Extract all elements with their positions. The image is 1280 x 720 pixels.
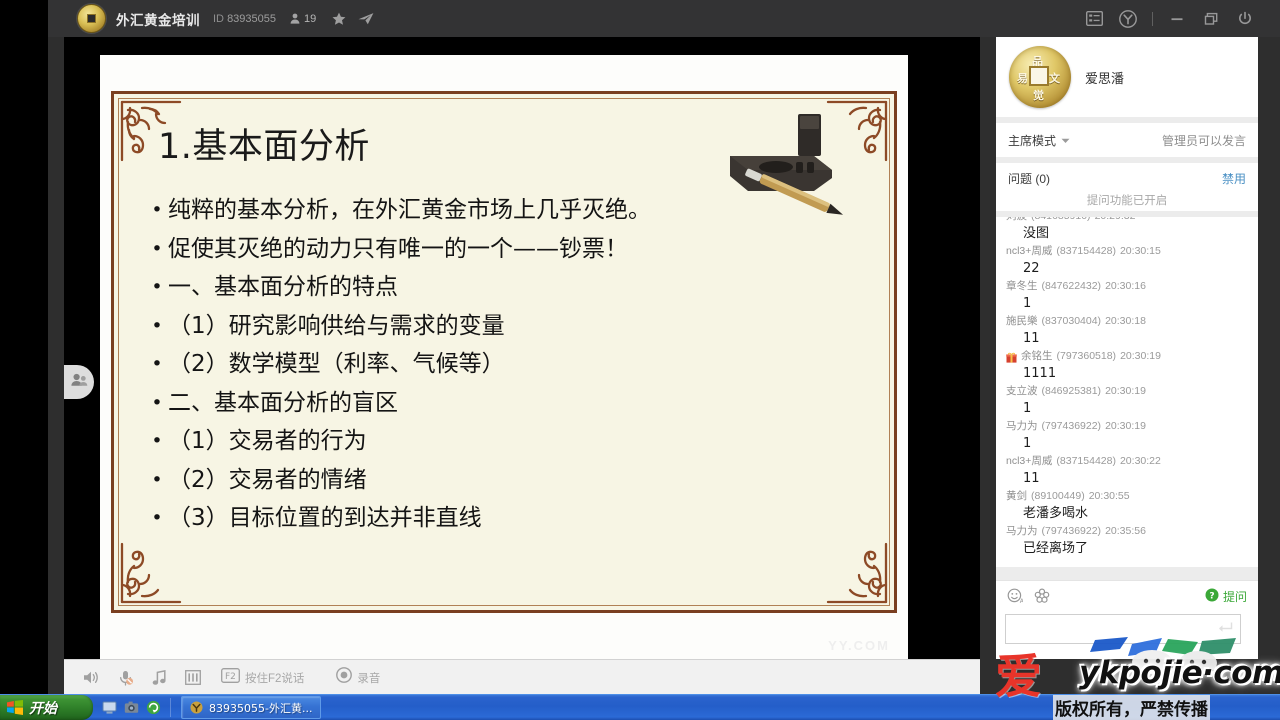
chat-time: 20:30:22 <box>1120 453 1161 469</box>
bullet-text: （2）交易者的情绪 <box>168 461 866 500</box>
media-toolbar: F2 按住F2说话 录音 <box>64 659 980 695</box>
viewer-count-value: 19 <box>304 13 316 25</box>
chat-tools: A ? 提问 <box>996 581 1258 611</box>
bullet-marker: • <box>146 345 168 384</box>
record-label: 录音 <box>357 670 380 686</box>
watermark-site: ykpojie·com <box>1079 655 1280 691</box>
coin-glyph: 易 <box>1017 70 1028 86</box>
chat-message-text: 1 <box>1006 399 1248 418</box>
chat-username: 马力为 <box>1006 523 1038 539</box>
chat-username: 施民樂 <box>1006 313 1038 329</box>
bullet-item: •二、基本面分析的盲区 <box>146 384 866 423</box>
chat-time: 20:35:56 <box>1105 523 1146 539</box>
emoji-icon[interactable]: A <box>1007 588 1023 604</box>
people-icon <box>71 373 88 391</box>
chat-username: ncl3+周威 <box>1006 243 1052 259</box>
microphone-muted-icon[interactable] <box>109 660 143 695</box>
qa-status: 提问功能已开启 <box>996 192 1258 208</box>
bullet-marker: • <box>146 384 168 423</box>
chat-message: 余铭生 (797360518) 20:30:19 1111 <box>1006 348 1248 383</box>
chat-userid: (89100449) <box>1031 488 1085 504</box>
chat-message-header: 余铭生 (797360518) 20:30:19 <box>1006 348 1248 364</box>
chat-message-header: 刘波 (841685910) 20:29:32 <box>1006 217 1248 224</box>
chat-userid: (837154428) <box>1056 243 1116 259</box>
mode-selector[interactable]: 主席模式 <box>1008 131 1070 149</box>
chat-message: 马力为 (797436922) 20:35:56 已经离场了 <box>1006 523 1248 558</box>
qa-panel: 问题 (0) 禁用 提问功能已开启 <box>996 163 1258 211</box>
bullet-item: •（2）交易者的情绪 <box>146 461 866 500</box>
bullet-text: 纯粹的基本分析，在外汇黄金市场上几乎灭绝。 <box>168 191 866 230</box>
chat-message: 马力为 (797436922) 20:30:19 1 <box>1006 418 1248 453</box>
record-icon <box>336 667 352 688</box>
ornament-corner-icon <box>826 542 888 604</box>
channel-id: ID 83935055 <box>213 13 276 25</box>
slide-bullet-list: •纯粹的基本分析，在外汇黄金市场上几乎灭绝。 •促使其灭绝的动力只有唯一的一个—… <box>146 191 866 538</box>
chat-message: 施民樂 (837030404) 20:30:18 11 <box>1006 313 1248 348</box>
toolbar-divider <box>1152 12 1153 26</box>
browser-icon[interactable] <box>146 700 161 715</box>
chat-message: 黄剑 (89100449) 20:30:55 老潘多喝水 <box>1006 488 1248 523</box>
plane-icon[interactable] <box>358 12 374 25</box>
channel-id-value: 83935055 <box>227 13 276 25</box>
channel-name: 外汇黄金培训 <box>116 9 200 29</box>
chat-username: 章冬生 <box>1006 278 1038 294</box>
member-list-tab[interactable] <box>64 365 94 399</box>
titlebar: 外汇黄金培训 ID 83935055 19 <box>48 0 1280 37</box>
desktop-icon[interactable] <box>102 700 117 715</box>
yy-icon <box>190 701 203 714</box>
taskbar-item-label: 83935055-外汇黄... <box>209 700 312 716</box>
bullet-text: 促使其灭绝的动力只有唯一的一个——钞票！ <box>168 230 866 269</box>
chat-message-text: 1 <box>1006 434 1248 453</box>
chat-userid: (797360518) <box>1057 348 1117 364</box>
mode-bar: 主席模式 管理员可以发言 <box>996 123 1258 157</box>
chat-time: 20:29:32 <box>1095 217 1136 224</box>
chat-username: 支立波 <box>1006 383 1038 399</box>
quick-launch-bar <box>102 698 171 717</box>
flower-icon[interactable] <box>1034 588 1050 604</box>
chat-message-text: 老潘多喝水 <box>1006 504 1248 523</box>
chat-username: 马力为 <box>1006 418 1038 434</box>
window-controls <box>1077 0 1280 37</box>
f2-key-icon: F2 <box>221 668 240 688</box>
chat-messages-panel[interactable]: 刘波 (841685910) 20:29:32 没图 ncl3+周威 (8371… <box>996 217 1258 567</box>
coin-glyph: 品 <box>1032 53 1043 69</box>
bullet-text: （2）数学模型（利率、气候等） <box>168 345 866 384</box>
ask-question-label: 提问 <box>1223 588 1247 605</box>
taskbar-item-yy[interactable]: 83935055-外汇黄... <box>181 696 321 719</box>
bullet-marker: • <box>146 422 168 461</box>
slide: 1.基本面分析 <box>111 91 897 613</box>
people-icon <box>290 13 300 24</box>
watermark-subtitle: 版权所有，严禁传播 <box>1053 695 1210 720</box>
viewer-count: 19 <box>290 13 316 25</box>
chat-userid: (797436922) <box>1042 523 1102 539</box>
camera-icon[interactable] <box>124 700 139 715</box>
restore-icon[interactable] <box>1194 0 1228 37</box>
record-button[interactable]: 录音 <box>327 660 389 695</box>
chat-message-text: 已经离场了 <box>1006 539 1248 558</box>
coin-glyph: 觉 <box>1033 87 1044 103</box>
chat-message-list: 刘波 (841685910) 20:29:32 没图 ncl3+周威 (8371… <box>996 217 1258 558</box>
chat-message: ncl3+周威 (837154428) 20:30:15 22 <box>1006 243 1248 278</box>
chat-message: 章冬生 (847622432) 20:30:16 1 <box>1006 278 1248 313</box>
bullet-marker: • <box>146 268 168 307</box>
chat-userid: (841685910) <box>1031 217 1091 224</box>
yy-application-window: 外汇黄金培训 ID 83935055 19 <box>48 0 1280 694</box>
mode-label: 主席模式 <box>1008 132 1056 149</box>
chevron-down-icon <box>1061 131 1070 149</box>
channel-id-label: ID <box>213 13 224 25</box>
home-icon[interactable] <box>1111 0 1145 37</box>
bullet-marker: • <box>146 307 168 346</box>
speaker-icon[interactable] <box>74 660 109 695</box>
push-to-talk-label: 按住F2说话 <box>245 670 304 686</box>
presentation-stage: 1.基本面分析 <box>64 37 980 659</box>
chat-time: 20:30:16 <box>1105 278 1146 294</box>
chat-message-text: 1111 <box>1006 364 1248 383</box>
chat-message: ncl3+周威 (837154428) 20:30:22 11 <box>1006 453 1248 488</box>
slide-page: 1.基本面分析 <box>100 55 908 659</box>
qa-header: 问题 (0) 禁用 <box>996 163 1258 187</box>
bullet-item: •（2）数学模型（利率、气候等） <box>146 345 866 384</box>
start-label: 开始 <box>29 698 57 718</box>
bullet-marker: • <box>146 461 168 500</box>
chat-userid: (837030404) <box>1042 313 1102 329</box>
ask-question-button[interactable]: ? 提问 <box>1205 588 1247 605</box>
chat-message-text: 1 <box>1006 294 1248 313</box>
chat-message-text: 11 <box>1006 469 1248 488</box>
chat-userid: (797436922) <box>1042 418 1102 434</box>
svg-text:?: ? <box>1209 591 1214 601</box>
chat-userid: (837154428) <box>1056 453 1116 469</box>
chat-message-text: 22 <box>1006 259 1248 278</box>
host-name: 爱思潘 <box>1085 68 1124 87</box>
bullet-text: （3）目标位置的到达并非直线 <box>168 499 866 538</box>
coin-avatar-icon[interactable]: 品 易 文 觉 <box>1009 46 1071 108</box>
chat-sidebar: 品 易 文 觉 爱思潘 主席模式 管理员可以发言 问题 (0) <box>996 37 1258 659</box>
chat-message-header: 马力为 (797436922) 20:30:19 <box>1006 418 1248 434</box>
bullet-item: •（1）研究影响供给与需求的变量 <box>146 307 866 346</box>
power-icon[interactable] <box>1228 0 1262 37</box>
bullet-text: 二、基本面分析的盲区 <box>168 384 866 423</box>
chat-time: 20:30:19 <box>1105 383 1146 399</box>
yy-watermark: YY.COM <box>828 638 890 653</box>
bullet-item: •纯粹的基本分析，在外汇黄金市场上几乎灭绝。 <box>146 191 866 230</box>
bullet-marker: • <box>146 230 168 269</box>
list-icon[interactable] <box>1077 0 1111 37</box>
coin-glyph: 文 <box>1049 70 1060 86</box>
chat-time: 20:30:15 <box>1120 243 1161 259</box>
bullet-item: •（3）目标位置的到达并非直线 <box>146 499 866 538</box>
push-to-talk-button[interactable]: F2 按住F2说话 <box>212 660 313 695</box>
permission-text: 管理员可以发言 <box>1162 132 1246 149</box>
chat-message-header: ncl3+周威 (837154428) 20:30:15 <box>1006 243 1248 259</box>
question-icon: ? <box>1205 588 1219 605</box>
start-button[interactable]: 开始 <box>0 695 93 720</box>
bullet-text: （1）交易者的行为 <box>168 422 866 461</box>
host-card: 品 易 文 觉 爱思潘 <box>996 37 1258 117</box>
chat-time: 20:30:19 <box>1105 418 1146 434</box>
qa-disable-button[interactable]: 禁用 <box>1222 170 1246 187</box>
chat-message-text: 11 <box>1006 329 1248 348</box>
slide-title: 1.基本面分析 <box>158 118 370 169</box>
watermark-brand: 爱 <box>995 638 1042 707</box>
chat-message-header: 支立波 (846925381) 20:30:19 <box>1006 383 1248 399</box>
star-icon[interactable] <box>332 12 346 26</box>
chat-message: 支立波 (846925381) 20:30:19 1 <box>1006 383 1248 418</box>
bullet-marker: • <box>146 499 168 538</box>
chat-message-header: ncl3+周威 (837154428) 20:30:22 <box>1006 453 1248 469</box>
chat-time: 20:30:18 <box>1105 313 1146 329</box>
equalizer-icon[interactable] <box>176 660 210 695</box>
qa-title: 问题 (0) <box>1008 170 1050 187</box>
bullet-text: （1）研究影响供给与需求的变量 <box>168 307 866 346</box>
windows-flag-icon <box>7 700 23 715</box>
chat-message-header: 章冬生 (847622432) 20:30:16 <box>1006 278 1248 294</box>
chat-message-header: 黄剑 (89100449) 20:30:55 <box>1006 488 1248 504</box>
music-note-icon[interactable] <box>143 660 176 695</box>
chat-username: ncl3+周威 <box>1006 453 1052 469</box>
desktop-background: 外汇黄金培训 ID 83935055 19 <box>0 0 1280 720</box>
chat-userid: (846925381) <box>1042 383 1102 399</box>
svg-text:F2: F2 <box>225 672 236 682</box>
chat-time: 20:30:55 <box>1089 488 1130 504</box>
chat-message-header: 施民樂 (837030404) 20:30:18 <box>1006 313 1248 329</box>
bullet-item: •一、基本面分析的特点 <box>146 268 866 307</box>
chat-userid: (847622432) <box>1042 278 1102 294</box>
bullet-text: 一、基本面分析的特点 <box>168 268 866 307</box>
svg-text:A: A <box>1020 598 1023 604</box>
chat-username: 刘波 <box>1006 217 1027 224</box>
coin-avatar-icon <box>77 4 106 33</box>
bullet-item: •促使其灭绝的动力只有唯一的一个——钞票！ <box>146 230 866 269</box>
chat-message: 刘波 (841685910) 20:29:32 没图 <box>1006 217 1248 243</box>
ornament-corner-icon <box>120 542 182 604</box>
chat-username: 黄剑 <box>1006 488 1027 504</box>
chat-message-header: 马力为 (797436922) 20:35:56 <box>1006 523 1248 539</box>
bullet-marker: • <box>146 191 168 230</box>
bullet-item: •（1）交易者的行为 <box>146 422 866 461</box>
gift-icon <box>1006 352 1017 363</box>
chat-message-text: 没图 <box>1006 224 1248 243</box>
chat-username: 余铭生 <box>1021 348 1053 364</box>
minimize-icon[interactable] <box>1160 0 1194 37</box>
chat-time: 20:30:19 <box>1120 348 1161 364</box>
